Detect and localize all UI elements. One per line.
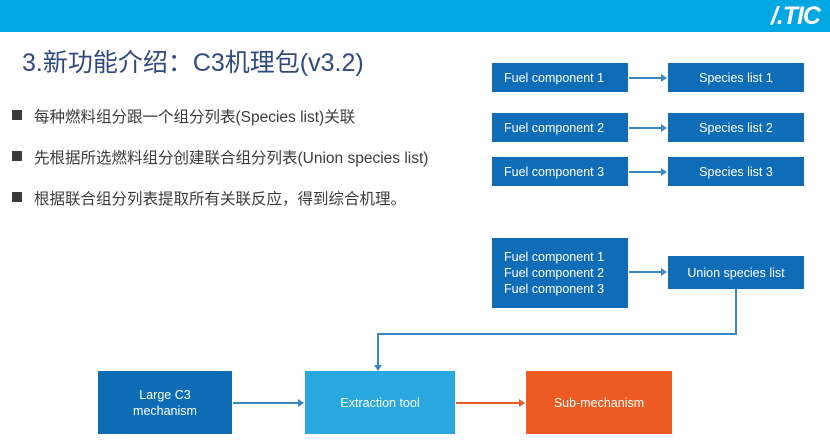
arrowhead-fuel2-species2 [661, 124, 667, 132]
list-item: 先根据所选燃料组分创建联合组分列表(Union species list) [12, 145, 472, 172]
list-item: 根据联合组分列表提取所有关联反应，得到综合机理。 [12, 186, 472, 213]
large-c3-line-2: mechanism [133, 403, 197, 419]
connector-fuel1-species1 [629, 77, 661, 79]
arrowhead-fuel1-species1 [661, 74, 667, 82]
bullet-text: 先根据所选燃料组分创建联合组分列表(Union species list) [34, 145, 428, 172]
bullet-text: 每种燃料组分跟一个组分列表(Species list)关联 [34, 104, 355, 131]
connector-large-to-extraction [233, 402, 298, 404]
atic-logo: /.TIC [771, 1, 820, 31]
square-bullet-icon [12, 110, 22, 120]
top-banner [0, 0, 830, 32]
page-title: 3.新功能介绍：C3机理包(v3.2) [22, 43, 364, 79]
connector-union-elbow-vertical-left [377, 333, 379, 366]
bullet-list: 每种燃料组分跟一个组分列表(Species list)关联 先根据所选燃料组分创… [12, 104, 472, 227]
connector-extraction-to-sub [456, 402, 519, 404]
list-item: 每种燃料组分跟一个组分列表(Species list)关联 [12, 104, 472, 131]
connector-fuel3-species3 [629, 171, 661, 173]
connector-union-source-target [629, 271, 661, 273]
node-union-species-list: Union species list [668, 256, 804, 289]
node-extraction-tool: Extraction tool [305, 371, 455, 434]
node-sub-mechanism: Sub-mechanism [526, 371, 672, 434]
union-source-line-2: Fuel component 2 [504, 265, 604, 281]
node-union-source: Fuel component 1 Fuel component 2 Fuel c… [492, 238, 628, 308]
node-fuel-component-2: Fuel component 2 [492, 113, 628, 142]
connector-fuel2-species2 [629, 127, 661, 129]
node-fuel-component-3: Fuel component 3 [492, 157, 628, 186]
connector-union-elbow-horizontal [377, 333, 737, 335]
arrowhead-union-source-target [661, 268, 667, 276]
connector-union-elbow-vertical-right [735, 289, 737, 334]
square-bullet-icon [12, 151, 22, 161]
node-species-list-1: Species list 1 [668, 63, 804, 92]
slide-canvas: /.TIC 3.新功能介绍：C3机理包(v3.2) 每种燃料组分跟一个组分列表(… [0, 0, 830, 447]
node-fuel-component-1: Fuel component 1 [492, 63, 628, 92]
bullet-text: 根据联合组分列表提取所有关联反应，得到综合机理。 [34, 186, 406, 213]
node-species-list-2: Species list 2 [668, 113, 804, 142]
arrowhead-union-to-extraction [374, 365, 382, 371]
node-large-c3-mechanism: Large C3 mechanism [98, 371, 232, 434]
arrowhead-large-to-extraction [298, 399, 304, 407]
node-species-list-3: Species list 3 [668, 157, 804, 186]
large-c3-line-1: Large C3 [139, 387, 190, 403]
arrowhead-extraction-to-sub [519, 399, 525, 407]
arrowhead-fuel3-species3 [661, 168, 667, 176]
union-source-line-1: Fuel component 1 [504, 249, 604, 265]
square-bullet-icon [12, 192, 22, 202]
union-source-line-3: Fuel component 3 [504, 281, 604, 297]
